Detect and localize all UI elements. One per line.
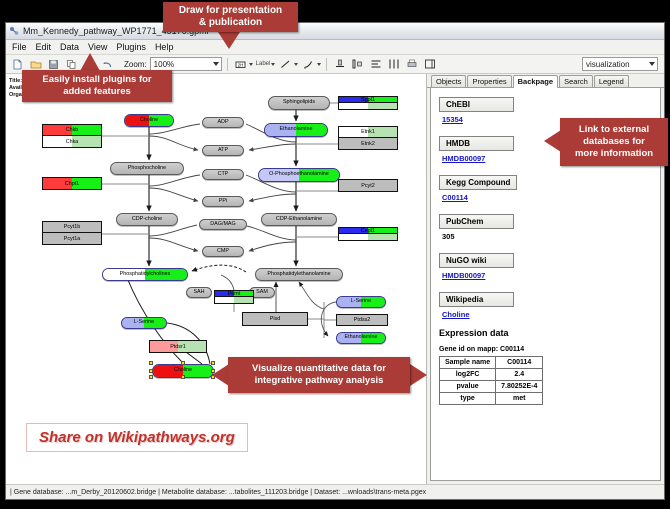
metabolite-node-cdp-choline[interactable]: CDP-choline xyxy=(116,213,178,226)
callout-draw-line2: & publication xyxy=(199,17,262,29)
gene-node-pcyt1[interactable]: Pcyt1bPcyt1a xyxy=(42,221,102,245)
metabolite-node-ethanolamine-top[interactable]: Ethanolamine xyxy=(264,123,328,137)
gene-label: Etnk1 xyxy=(361,129,375,135)
selection-handle[interactable] xyxy=(181,361,185,365)
gene-label: Ptdss2 xyxy=(354,317,370,323)
datanode-dropdown[interactable]: 2H xyxy=(233,57,253,72)
expression-table: Sample nameC00114log2FC2.4pvalue7.80252E… xyxy=(439,356,543,405)
line-dropdown[interactable] xyxy=(278,57,298,72)
group-icon[interactable] xyxy=(350,57,365,72)
pathvisio-app-icon xyxy=(9,26,19,36)
gene-label: Chpt1 xyxy=(65,181,79,187)
expression-key: pvalue xyxy=(440,381,496,393)
node-label: O-Phosphoethanolamine xyxy=(269,172,329,177)
gene-row: Chpt1 xyxy=(43,178,101,189)
node-label: ADP xyxy=(217,120,228,125)
visualization-value: visualization xyxy=(586,60,630,69)
gene-row xyxy=(215,297,253,303)
selection-handle[interactable] xyxy=(149,375,153,379)
gene-row: Pcyt2 xyxy=(339,180,397,191)
metabolite-node-ethanolamine-bottom[interactable]: Ethanolamine xyxy=(336,332,386,344)
datanode-icon[interactable]: 2H xyxy=(233,57,248,72)
menu-item-help[interactable]: Help xyxy=(155,42,174,52)
db-header-nugo-wiki: NuGO wiki xyxy=(439,253,514,268)
gene-row: Pisd xyxy=(243,313,307,325)
zoom-value: 100% xyxy=(154,60,174,69)
callout-link-arrow-icon xyxy=(544,130,561,152)
chevron-down-icon xyxy=(317,63,321,66)
node-label: Ethanolamine xyxy=(280,127,313,132)
gene-node-ptdss2[interactable]: Ptdss2 xyxy=(336,314,388,326)
stack-icon[interactable] xyxy=(368,57,383,72)
node-label: CTP xyxy=(218,172,229,177)
metabolite-node-ctp[interactable]: CTP xyxy=(202,169,244,180)
status-text: | Gene database: ...m_Derby_20120602.bri… xyxy=(10,489,426,496)
node-label: Sphingolipids xyxy=(283,100,315,105)
toolbar-separator xyxy=(326,58,327,71)
db-header-kegg-compound: Kegg Compound xyxy=(439,175,517,190)
gene-node-pisd[interactable]: Pisd xyxy=(242,312,308,326)
gene-node-cept1[interactable]: Cept1 xyxy=(338,227,398,241)
menu-item-data[interactable]: Data xyxy=(60,42,79,52)
callout-visualize: Visualize quantitative data for integrat… xyxy=(228,357,410,393)
node-label: Phosphatidylcholines xyxy=(120,272,171,277)
gene-node-etnk[interactable]: Etnk1Etnk2 xyxy=(338,126,398,150)
metabolite-node-phosphatidylcholines[interactable]: Phosphatidylcholines xyxy=(102,268,188,281)
metabolite-node-o-phosphoethanolamine[interactable]: O-Phosphoethanolamine xyxy=(258,168,340,182)
gene-node-sgpl1[interactable]: Sgpl1 xyxy=(338,96,398,110)
callout-link: Link to external databases for more info… xyxy=(560,118,668,166)
gene-row: Ptdsr1 xyxy=(150,341,206,352)
line-icon[interactable] xyxy=(278,57,293,72)
selection-handle[interactable] xyxy=(181,375,185,379)
label-dropdown[interactable]: Label xyxy=(256,61,276,67)
expression-data-title: Expression data xyxy=(439,328,652,338)
selection-handle[interactable] xyxy=(149,369,153,373)
db-link-nugo-wiki[interactable]: HMDB00097 xyxy=(442,271,652,280)
gene-fill-left xyxy=(339,234,368,240)
node-label: CDP-choline xyxy=(132,217,162,222)
title-bar: Mm_Kennedy_pathway_WP1771_45176.gpml xyxy=(6,23,664,40)
visualization-combo[interactable]: visualization xyxy=(582,57,658,71)
metabolite-node-sah[interactable]: SAH xyxy=(186,287,212,298)
node-label: L-Serine xyxy=(134,320,154,325)
node-label: SAH xyxy=(193,290,204,295)
print-icon[interactable] xyxy=(404,57,419,72)
label-tool-label: Label xyxy=(256,61,271,67)
menu-bar: File Edit Data View Plugins Help xyxy=(6,40,664,55)
callout-draw-line1: Draw for presentation xyxy=(179,5,282,17)
callout-visualize-line1: Visualize quantitative data for xyxy=(252,363,386,375)
callout-plugins: Easily install plugins for added feature… xyxy=(22,70,172,102)
db-link-kegg-compound[interactable]: C00114 xyxy=(442,193,652,202)
metabolite-node-ppi[interactable]: PPi xyxy=(202,196,244,207)
node-label: CMP xyxy=(217,249,229,254)
gene-fill-left xyxy=(339,103,368,109)
expression-row: pvalue7.80252E-4 xyxy=(440,381,543,393)
chevron-down-icon xyxy=(649,62,655,66)
gene-row: Etnk1 xyxy=(339,127,397,138)
metabolite-node-cdp-ethanolamine[interactable]: CDP-Ethanolamine xyxy=(261,213,337,226)
node-label: L-Serine xyxy=(351,299,371,304)
expression-key: log2FC xyxy=(440,369,496,381)
metabolite-node-sphingolipids[interactable]: Sphingolipids xyxy=(268,96,330,110)
gene-node-pcyt2[interactable]: Pcyt2 xyxy=(338,179,398,192)
db-header-chebi: ChEBI xyxy=(439,97,514,112)
expression-value: 7.80252E-4 xyxy=(496,381,543,393)
node-label: Phosphatidylethanolamine xyxy=(267,272,330,277)
callout-link-line2: databases for xyxy=(583,136,645,148)
gene-node-chpt1[interactable]: Chpt1 xyxy=(42,177,102,190)
menu-item-file[interactable]: File xyxy=(12,42,27,52)
expression-value: 2.4 xyxy=(496,369,543,381)
db-link-wikipedia[interactable]: Choline xyxy=(442,310,652,319)
node-label: CDP-Ethanolamine xyxy=(276,217,322,222)
callout-share: Share on Wikipathways.org xyxy=(26,423,248,452)
tab-properties[interactable]: Properties xyxy=(467,75,511,87)
expression-value: met xyxy=(496,393,543,405)
align-icon[interactable] xyxy=(332,57,347,72)
gene-row: Ptdss2 xyxy=(337,315,387,325)
gene-label: Chkb xyxy=(66,127,79,133)
node-label: Choline xyxy=(140,118,158,123)
metabolite-node-atp[interactable]: ATP xyxy=(202,145,244,156)
node-label: DAG/MAG xyxy=(210,222,235,227)
gene-fill-left xyxy=(215,297,234,303)
gene-node-ptdsr1[interactable]: Ptdsr1 xyxy=(149,340,207,353)
node-label: Phosphocholine xyxy=(128,166,166,171)
callout-plugins-line2: added features xyxy=(63,86,131,98)
gene-label: Cept1 xyxy=(361,228,375,234)
db-header-wikipedia: Wikipedia xyxy=(439,292,514,307)
tab-objects[interactable]: Objects xyxy=(431,75,466,87)
gene-row: Chka xyxy=(43,136,101,147)
gene-label: Pemt xyxy=(228,291,241,297)
metabolite-node-phosphatidylethanolamine[interactable]: Phosphatidylethanolamine xyxy=(255,268,343,281)
expression-row: log2FC2.4 xyxy=(440,369,543,381)
chevron-down-icon xyxy=(213,62,219,66)
metabolite-node-l-serine-left[interactable]: L-Serine xyxy=(121,317,167,329)
gene-row: Pcyt1a xyxy=(43,233,101,244)
metabolite-node-dagmag[interactable]: DAG/MAG xyxy=(199,219,247,230)
gene-label: Etnk2 xyxy=(361,141,375,147)
metabolite-node-cmp[interactable]: CMP xyxy=(202,246,244,257)
gene-label: Pcyt1b xyxy=(64,224,80,230)
interaction-dropdown[interactable] xyxy=(301,57,321,72)
gene-label: Ptdsr1 xyxy=(170,344,186,350)
node-label: Ethanolamine xyxy=(345,335,378,340)
callout-link-line3: more information xyxy=(575,148,653,160)
callout-draw: Draw for presentation & publication xyxy=(163,2,298,32)
tab-search[interactable]: Search xyxy=(559,75,593,87)
svg-text:2H: 2H xyxy=(237,62,243,67)
gene-label: Sgpl1 xyxy=(361,97,375,103)
sidebar-toggle-icon[interactable] xyxy=(422,57,437,72)
menu-item-view[interactable]: View xyxy=(88,42,107,52)
expression-key: type xyxy=(440,393,496,405)
toolbar-separator xyxy=(227,58,228,71)
metabolite-node-l-serine-right[interactable]: L-Serine xyxy=(336,296,386,308)
callout-plugins-line1: Easily install plugins for xyxy=(42,74,151,86)
expression-row: Sample nameC00114 xyxy=(440,357,543,369)
side-tabstrip: ObjectsPropertiesBackpageSearchLegend xyxy=(427,74,664,88)
chevron-down-icon xyxy=(271,63,275,66)
node-label: SAM xyxy=(256,290,268,295)
gene-node-pemt[interactable]: Pemt xyxy=(214,290,254,304)
gene-row xyxy=(339,234,397,240)
callout-share-text: Share on Wikipathways.org xyxy=(39,429,235,446)
gene-label: Chka xyxy=(66,139,79,145)
gene-row: Etnk2 xyxy=(339,138,397,149)
menu-item-edit[interactable]: Edit xyxy=(36,42,52,52)
gene-row: Pcyt1b xyxy=(43,222,101,233)
selection-handle[interactable] xyxy=(149,361,153,365)
node-label: Choline xyxy=(174,368,192,373)
callout-plugins-arrow-icon xyxy=(80,53,100,71)
node-label: ATP xyxy=(218,148,228,153)
expression-row: typemet xyxy=(440,393,543,405)
callout-visualize-line2: integrative pathway analysis xyxy=(255,375,384,387)
gene-row xyxy=(339,103,397,109)
zoom-label: Zoom: xyxy=(124,60,147,69)
interaction-icon[interactable] xyxy=(301,57,316,72)
tab-backpage[interactable]: Backpage xyxy=(513,75,558,88)
callout-visualize-arrow-left-icon xyxy=(212,364,229,386)
callout-visualize-arrow-right-icon xyxy=(410,364,427,386)
db-header-hmdb: HMDB xyxy=(439,136,514,151)
metabolite-node-adp[interactable]: ADP xyxy=(202,117,244,128)
gene-fill-right xyxy=(234,297,253,303)
chevron-down-icon xyxy=(294,63,298,66)
distribute-icon[interactable] xyxy=(386,57,401,72)
gene-fill-right xyxy=(368,234,397,240)
chevron-down-icon xyxy=(249,63,253,66)
metabolite-node-choline-top[interactable]: Choline xyxy=(124,114,174,127)
menu-item-plugins[interactable]: Plugins xyxy=(116,42,146,52)
callout-link-line1: Link to external xyxy=(579,124,649,136)
callout-draw-arrow-icon xyxy=(218,32,240,49)
status-bar: | Gene database: ...m_Derby_20120602.bri… xyxy=(6,484,664,499)
expression-key: Sample name xyxy=(440,357,496,369)
gene-label: Pcyt1a xyxy=(64,236,80,242)
gene-row: Chkb xyxy=(43,125,101,136)
db-value-pubchem: 305 xyxy=(442,232,652,241)
gene-label: Pcyt2 xyxy=(361,183,374,189)
expression-value: C00114 xyxy=(496,357,543,369)
gene-fill-right xyxy=(368,103,397,109)
node-label: PPi xyxy=(219,199,227,204)
zoom-combo[interactable]: 100% xyxy=(150,57,222,71)
gene-node-chk[interactable]: ChkbChka xyxy=(42,124,102,148)
gene-label: Pisd xyxy=(270,316,281,322)
tab-legend[interactable]: Legend xyxy=(594,75,629,87)
gene-id-line: Gene id on mapp: C00114 xyxy=(439,346,652,353)
metabolite-node-phosphocholine[interactable]: Phosphocholine xyxy=(110,162,184,175)
db-header-pubchem: PubChem xyxy=(439,214,514,229)
